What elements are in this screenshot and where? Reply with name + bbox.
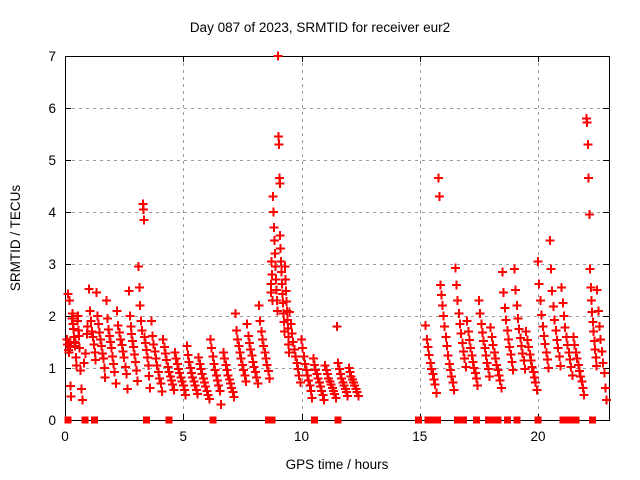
y-tick-label: 3 xyxy=(48,257,56,272)
chart-container: 0123456705101520 Day 087 of 2023, SRMTID… xyxy=(0,0,640,480)
x-tick-label: 15 xyxy=(412,429,427,444)
x-tick-label: 5 xyxy=(180,429,188,444)
data-point-square xyxy=(473,417,480,424)
y-tick-label: 0 xyxy=(48,413,56,428)
chart-background xyxy=(0,0,640,480)
y-tick-label: 5 xyxy=(48,153,56,168)
data-point-square xyxy=(268,417,275,424)
data-point-square xyxy=(209,417,216,424)
chart-title: Day 087 of 2023, SRMTID for receiver eur… xyxy=(190,20,450,35)
data-point-square xyxy=(415,417,422,424)
data-point-square xyxy=(494,417,501,424)
y-axis-label: SRMTID / TECUs xyxy=(8,185,23,292)
scatter-plot: 0123456705101520 Day 087 of 2023, SRMTID… xyxy=(0,0,640,480)
data-point-square xyxy=(91,417,98,424)
data-point-square xyxy=(82,417,89,424)
data-point-square xyxy=(434,417,441,424)
data-point-square xyxy=(143,417,150,424)
x-tick-label: 0 xyxy=(61,429,69,444)
y-tick-label: 6 xyxy=(48,101,56,116)
y-tick-label: 2 xyxy=(48,309,56,324)
data-point-square xyxy=(589,417,596,424)
y-tick-label: 7 xyxy=(48,49,56,64)
data-point-square xyxy=(513,417,520,424)
data-point-square xyxy=(504,417,511,424)
data-point-square xyxy=(311,417,318,424)
y-tick-label: 4 xyxy=(48,205,56,220)
data-point-square xyxy=(535,417,542,424)
data-point-square xyxy=(460,417,467,424)
y-tick-label: 1 xyxy=(48,361,56,376)
data-point-square xyxy=(64,417,71,424)
data-point-square xyxy=(166,417,173,424)
x-tick-label: 20 xyxy=(531,429,546,444)
x-axis-label: GPS time / hours xyxy=(286,457,389,472)
data-point-square xyxy=(572,417,579,424)
data-point-square xyxy=(335,417,342,424)
x-tick-label: 10 xyxy=(294,429,309,444)
